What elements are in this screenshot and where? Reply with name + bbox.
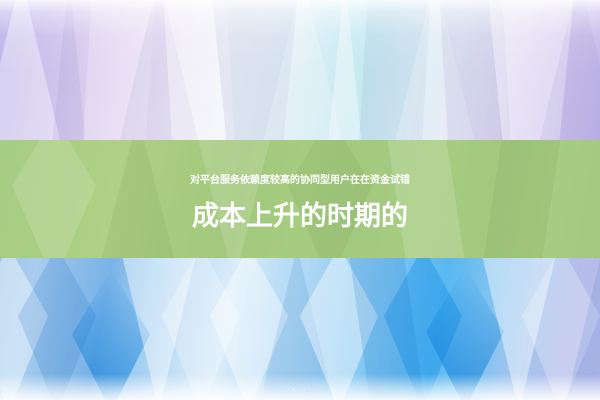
caption-text: 对平台服务依赖度较高的协同型用户在在资金试错 成本上升的时期的 <box>0 163 600 235</box>
bottom-blue-panel: · · <box>0 258 600 400</box>
caption-line-1: 对平台服务依赖度较高的协同型用户在在资金试错 <box>0 163 600 199</box>
caption-line-2: 成本上升的时期的 <box>0 199 600 235</box>
decorative-banner: · · 对平台服务依赖度较高的协同型用户在在资金试错 成本上升的时期的 <box>0 0 600 400</box>
watermark-text: · · <box>292 383 309 396</box>
caption-band: 对平台服务依赖度较高的协同型用户在在资金试错 成本上升的时期的 <box>0 140 600 258</box>
